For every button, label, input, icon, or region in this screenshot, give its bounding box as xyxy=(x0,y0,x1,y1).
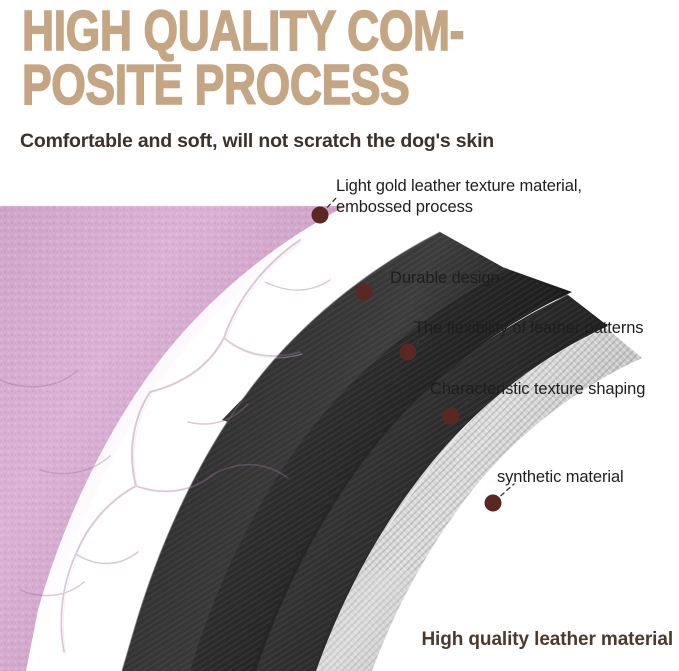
callout-label-durable-design: Durable design xyxy=(390,268,500,289)
callout-label-characteristic-texture-shaping: Characteristic texture shaping xyxy=(430,379,645,400)
page-title: HIGH QUALITY COM- POSITE PROCESS xyxy=(22,4,521,112)
callout-label-flexibility-leather-patterns: The flexibility of leather patterns xyxy=(414,318,643,339)
bottom-caption: High quality leather material xyxy=(421,629,673,651)
subtitle: Comfortable and soft, will not scratch t… xyxy=(20,130,494,153)
product-infographic: HIGH QUALITY COM- POSITE PROCESS Comfort… xyxy=(0,0,679,671)
callout-label-synthetic-material: synthetic material xyxy=(497,467,624,488)
material-cross-section-illustration xyxy=(0,170,679,671)
callout-label-light-gold-leather: Light gold leather texture material, emb… xyxy=(336,176,582,218)
